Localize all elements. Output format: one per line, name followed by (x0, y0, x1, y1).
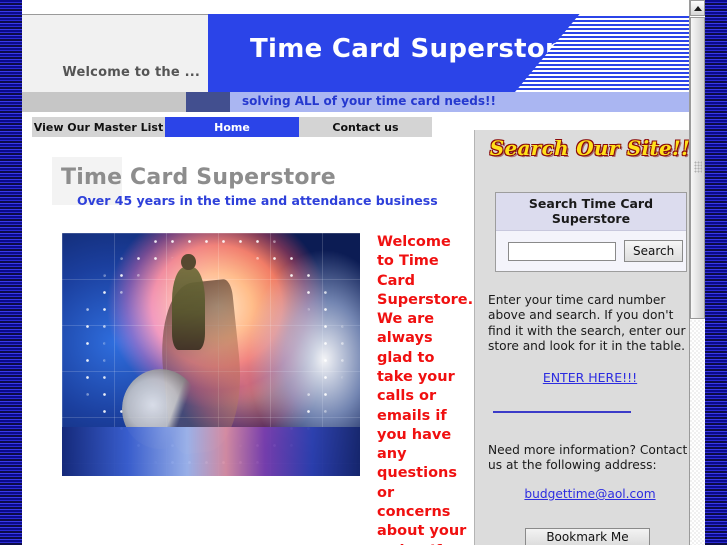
scrollbar-grip-icon (694, 161, 702, 173)
search-panel: Search Time Card Superstore Search (495, 192, 687, 272)
page-content: Welcome to the ... Time Card Superstore … (22, 0, 705, 545)
tagline-strip: solving ALL of your time card needs!! (22, 92, 705, 112)
contact-text: Need more information? Contact us at the… (488, 443, 693, 474)
nav-tab-master-list[interactable]: View Our Master List (32, 117, 165, 137)
vertical-scrollbar[interactable] (689, 0, 705, 545)
page-subtitle: Over 45 years in the time and attendance… (77, 193, 438, 208)
email-link[interactable]: budgettime@aol.com (475, 487, 705, 501)
banner-left-panel: Welcome to the ... (22, 14, 208, 92)
page-title: Time Card Superstore (61, 165, 336, 190)
hero-businessman-figure (172, 267, 205, 350)
search-input[interactable] (508, 242, 616, 261)
scrollbar-thumb[interactable] (690, 17, 705, 319)
nav-tab-home[interactable]: Home (165, 117, 299, 137)
search-button[interactable]: Search (624, 240, 683, 262)
nav-tab-contact-us[interactable]: Contact us (299, 117, 432, 137)
main-navigation: View Our Master List Home Contact us (32, 117, 452, 137)
enter-here-link[interactable]: ENTER HERE!!! (475, 370, 705, 385)
browser-page: Welcome to the ... Time Card Superstore … (0, 0, 727, 545)
welcome-paragraph: Welcome to Time Card Superstore. We are … (377, 233, 469, 545)
banner-welcome-text: Welcome to the ... (22, 65, 200, 80)
scrollbar-track[interactable] (690, 320, 705, 545)
tagline-text: solving ALL of your time card needs!! (242, 94, 496, 108)
chevron-up-icon (694, 6, 702, 11)
hero-image (62, 233, 360, 476)
site-title: Time Card Superstore (250, 34, 576, 64)
scroll-up-button[interactable] (690, 0, 705, 16)
sidebar: Search Our Site!! Search Time Card Super… (474, 130, 705, 545)
bookmark-button[interactable]: Bookmark Me Now! (525, 528, 650, 545)
search-panel-title: Search Time Card Superstore (496, 193, 686, 231)
main-column: Time Card Superstore Over 45 years in th… (32, 145, 462, 545)
sidebar-divider (493, 411, 631, 413)
search-heading: Search Our Site!! (475, 136, 705, 160)
search-row: Search (496, 231, 686, 262)
site-banner: Welcome to the ... Time Card Superstore (22, 14, 705, 92)
tagline-gray-block (22, 92, 186, 112)
search-instructions: Enter your time card number above and se… (488, 293, 688, 355)
banner-right-panel: Time Card Superstore (208, 14, 705, 92)
tagline-navy-block (186, 92, 230, 112)
hero-bottom-band (62, 427, 360, 476)
